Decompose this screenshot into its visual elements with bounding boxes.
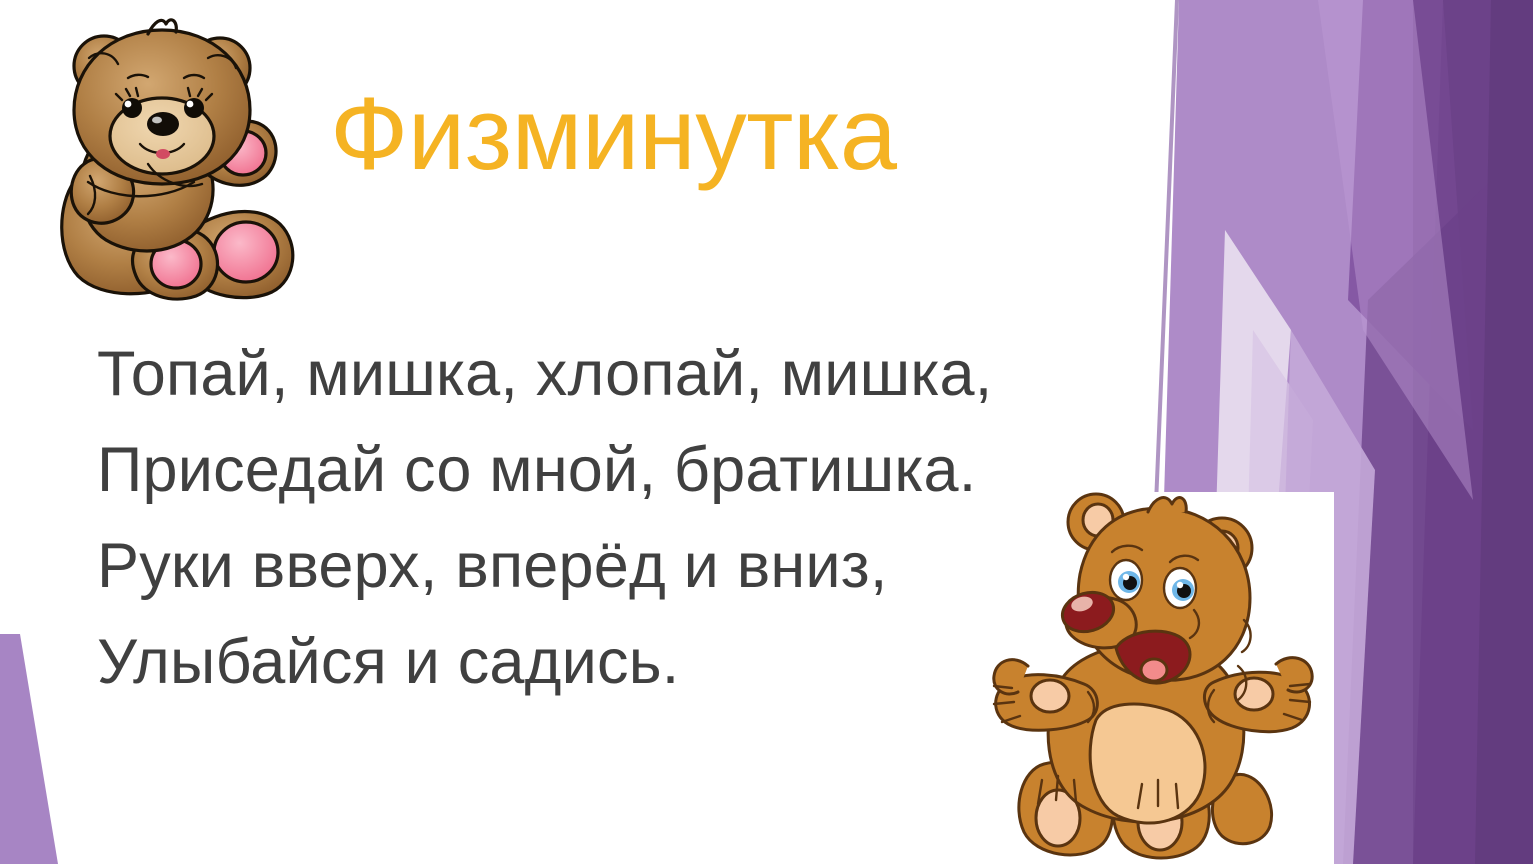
banner-shape-mid-top	[1348, 0, 1473, 430]
bear-nose	[147, 112, 179, 136]
corner-wedge-shape	[0, 634, 58, 864]
happy-bear-image	[988, 470, 1334, 864]
hbear-tongue	[1141, 659, 1167, 681]
bear-tongue	[156, 149, 170, 159]
poem-line-4: Улыбайся и садись.	[97, 614, 1117, 710]
banner-shape-dark-base	[1363, 0, 1533, 864]
poem-line-2: Приседай со мной, братишка.	[97, 422, 1117, 518]
hbear-head-tuft	[1148, 498, 1186, 512]
hbear-eye-shine-left	[1123, 574, 1129, 580]
page-title: Физминутка	[330, 78, 897, 189]
hbear-pawpad-left	[1031, 680, 1069, 712]
banner-shape-dark-lower	[1343, 140, 1533, 864]
bear-eye-shine-left	[125, 101, 132, 108]
bear-eye-shine-right	[187, 101, 194, 108]
hbear-pawpad-right	[1235, 678, 1273, 710]
bear-eye-right	[184, 98, 204, 118]
purple-corner-wedge	[0, 634, 90, 864]
banner-shape-darkest-sliver	[1475, 0, 1533, 864]
poem-text-block: Топай, мишка, хлопай, мишка, Приседай со…	[97, 326, 1117, 710]
bear-eye-left	[122, 98, 142, 118]
hbear-belly	[1090, 704, 1205, 823]
slide: Физминутка Топай, мишка, хлопай, мишка, …	[0, 0, 1533, 864]
hbear-eye-shine-right	[1177, 582, 1183, 588]
bear-nose-shine	[152, 117, 162, 124]
bear-foot-pad-right	[214, 222, 278, 282]
banner-shape-mid-column	[1413, 0, 1533, 864]
banner-shape-highlight	[1318, 0, 1473, 500]
poem-line-1: Топай, мишка, хлопай, мишка,	[97, 326, 1117, 422]
teddy-bear-waving-image	[44, 14, 306, 304]
poem-line-3: Руки вверх, вперёд и вниз,	[97, 518, 1117, 614]
